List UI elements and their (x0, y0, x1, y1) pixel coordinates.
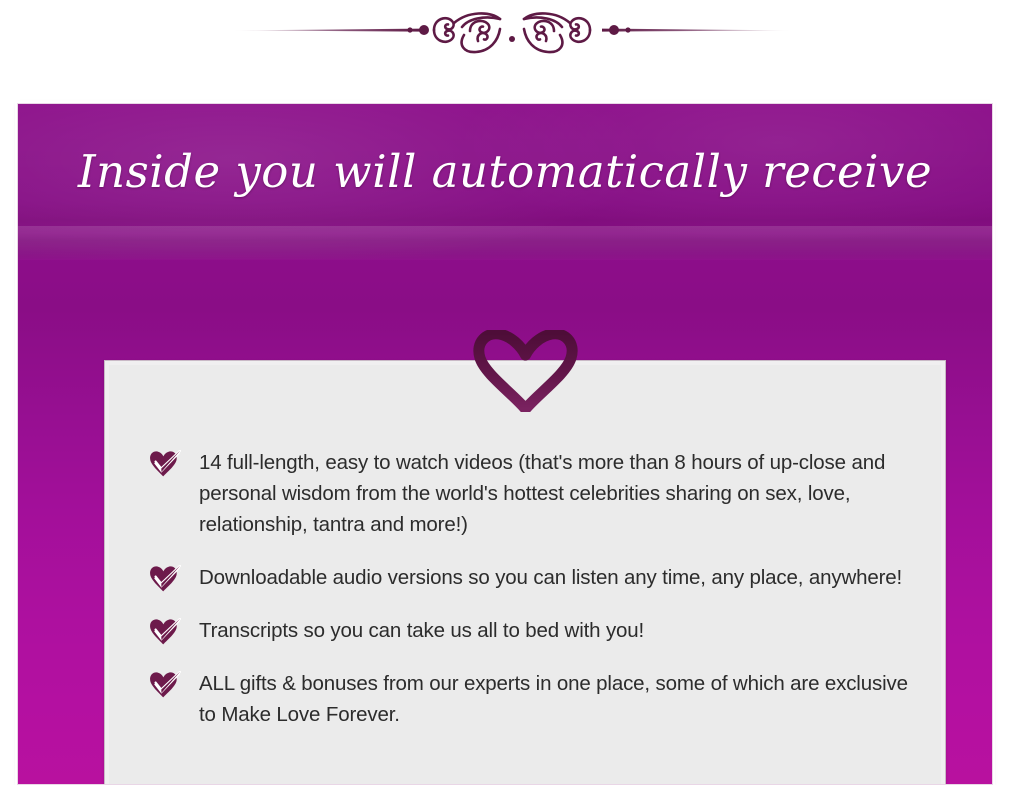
flourish-divider-icon (232, 5, 792, 55)
list-item: 14 full-length, easy to watch videos (th… (149, 447, 909, 540)
list-item-text: ALL gifts & bonuses from our experts in … (199, 672, 908, 726)
list-item: Downloadable audio versions so you can l… (149, 562, 909, 593)
heart-check-icon (149, 450, 181, 478)
top-divider (0, 0, 1024, 60)
heart-check-icon (149, 565, 181, 593)
list-item-text: Transcripts so you can take us all to be… (199, 619, 644, 642)
benefits-box: 14 full-length, easy to watch videos (th… (104, 360, 946, 785)
benefits-list: 14 full-length, easy to watch videos (th… (149, 447, 909, 730)
list-item-text: Downloadable audio versions so you can l… (199, 566, 902, 589)
promo-panel: Inside you will automatically receive 14… (17, 103, 993, 785)
list-item-text: 14 full-length, easy to watch videos (th… (199, 451, 885, 536)
list-item: Transcripts so you can take us all to be… (149, 615, 909, 646)
heart-check-icon (149, 618, 181, 646)
list-item: ALL gifts & bonuses from our experts in … (149, 668, 909, 730)
heart-check-icon (149, 671, 181, 699)
page-title: Inside you will automatically receive (18, 146, 992, 198)
